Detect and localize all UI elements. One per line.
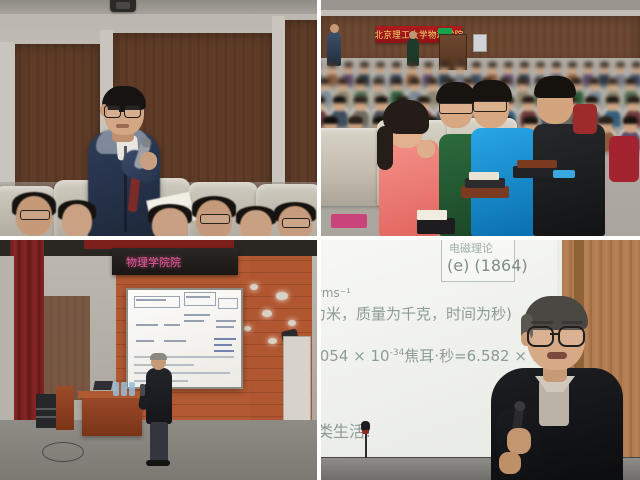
audience-hair: [344, 62, 353, 67]
slide-box-line2: (e) (1864): [447, 256, 528, 275]
slide-line-1: ⁹ms⁻¹: [321, 286, 351, 300]
slide-text-line: [186, 296, 210, 298]
questioner-mouth: [116, 124, 129, 128]
photo-panel-bottom-right: 电磁理论 (e) (1864) ⁹ms⁻¹ 为米，质量为千克，时间为秒) .05…: [321, 240, 640, 480]
audience-hair: [616, 62, 625, 67]
book: [469, 172, 499, 180]
slide-text-line: [136, 340, 154, 342]
wood-panel: [44, 296, 90, 400]
slide-text-line: [214, 344, 232, 346]
slide-text-line: [184, 320, 204, 322]
slide-text-line: [216, 320, 236, 322]
audience-hair: [333, 96, 345, 103]
audience-hair: [377, 126, 393, 170]
speaker-closeup-photo: 电磁理论 (e) (1864) ⁹ms⁻¹ 为米，质量为千克，时间为秒) .05…: [321, 240, 640, 480]
student-head: [240, 210, 272, 236]
audience-hair: [600, 62, 609, 67]
slide-text-line: [136, 299, 166, 301]
audience-hair: [392, 62, 401, 67]
audience-hair: [375, 96, 387, 103]
photo-collage: 北京理工大学物理学院: [0, 0, 640, 480]
eyeglasses-icon: [527, 326, 585, 343]
presenter-hair: [150, 353, 167, 360]
microphone-icon: [140, 384, 145, 396]
speaker-eyebrow: [561, 321, 583, 324]
audience-hair: [520, 62, 529, 67]
wall-light-reflection: [276, 292, 288, 300]
audience-hair: [391, 78, 402, 84]
slide-line-2: 为米，质量为千克，时间为秒): [321, 303, 512, 324]
slide-box: [184, 292, 216, 306]
podium-table: [82, 396, 142, 436]
equation-exponent-a: -34: [390, 348, 405, 358]
water-bottle: [121, 382, 127, 396]
slide-box-line1: 电磁理论: [449, 240, 493, 256]
audience-hair: [625, 78, 636, 84]
stage-sign: 物理学院院: [112, 248, 238, 275]
audience-hair: [424, 62, 433, 67]
slide-text-line: [216, 326, 234, 328]
audience-hair: [568, 62, 577, 67]
tablet: [553, 170, 575, 178]
eyeglasses-icon: [20, 210, 50, 220]
audience-hair: [598, 116, 612, 124]
presenter-shoes: [146, 460, 170, 466]
wall-light-reflection: [288, 320, 296, 326]
audience-hair: [440, 62, 449, 67]
wall-light-reflection: [268, 338, 277, 344]
audience-member-dark-jacket: [533, 124, 605, 236]
slide-box: [134, 296, 180, 308]
audience-hair: [534, 76, 576, 98]
wall-control-panel: [473, 34, 487, 52]
student-head: [152, 208, 188, 236]
eyeglasses-icon: [104, 105, 142, 116]
eyeglasses-icon: [439, 102, 473, 114]
slide-box: [218, 298, 238, 309]
audience-hair: [427, 78, 438, 84]
floor-cable: [42, 442, 84, 462]
auditorium-seat: [321, 128, 385, 206]
audience-hair: [328, 62, 337, 67]
wall-pilaster: [0, 42, 15, 204]
slide-text-line: [134, 356, 234, 358]
audience-hair: [321, 78, 330, 84]
stage-wide-photo: 物理学院院: [0, 240, 317, 480]
audience-hair: [470, 80, 512, 102]
microphone-windscreen: [362, 430, 369, 434]
audience-hair: [632, 62, 640, 67]
audience-hair: [504, 62, 513, 67]
audience-hair: [488, 62, 497, 67]
eyeglasses-icon: [473, 100, 507, 112]
ceiling-band: [0, 0, 317, 14]
audience-hair: [589, 78, 600, 84]
wood-panel: [284, 20, 317, 200]
slide-text-line: [214, 338, 236, 340]
ceiling-band: [321, 0, 640, 10]
standing-person: [327, 32, 341, 66]
audience-hair: [522, 96, 534, 103]
audience-hair: [472, 62, 481, 67]
audience-hair: [408, 62, 417, 67]
speaker-hand: [499, 452, 521, 474]
wall-light-reflection: [244, 326, 251, 331]
lecture-hall-questioner-photo: [0, 0, 317, 236]
audience-photo: 北京理工大学物理学院: [321, 0, 640, 236]
folding-desk: [517, 160, 557, 168]
speaker-hand: [507, 428, 531, 454]
pink-bag: [331, 214, 367, 228]
slide-text-line: [136, 324, 158, 326]
audience-hair: [552, 62, 561, 67]
audience-hair: [584, 62, 593, 67]
audience-hair: [354, 96, 366, 103]
speaker-mouth: [547, 352, 567, 359]
questioner-hand: [140, 152, 157, 170]
presenter-legs: [150, 422, 168, 462]
eyeglasses-icon: [200, 214, 230, 224]
stage-sign-text: 物理学院院: [112, 254, 181, 270]
audience-hair: [536, 62, 545, 67]
water-bottles: [113, 382, 139, 396]
audience-hair: [355, 78, 366, 84]
notebook: [417, 218, 455, 234]
slide-text-line: [164, 324, 180, 326]
slide-text-line: [214, 350, 234, 352]
audience-hair: [456, 62, 465, 67]
audience-hair: [321, 96, 325, 103]
audience-hair: [376, 62, 385, 67]
audience-hand: [417, 140, 435, 158]
audience-hair: [348, 116, 362, 124]
audience-hair: [409, 78, 420, 84]
audience-hair: [627, 96, 639, 103]
audience-hair: [585, 96, 597, 103]
slide-text-line: [184, 314, 210, 316]
photo-panel-top-right: 北京理工大学物理学院: [321, 0, 640, 236]
paper-sheet: [417, 210, 447, 220]
photo-panel-bottom-left: 物理学院院: [0, 240, 317, 480]
speaker-eyebrow: [531, 321, 553, 324]
wall-light-reflection: [250, 284, 258, 290]
ceiling-speaker-icon: [110, 0, 136, 12]
red-backpack: [609, 136, 639, 182]
projection-screen: [126, 288, 243, 389]
water-bottle: [113, 382, 119, 396]
red-backpack: [573, 104, 597, 134]
audience-hair: [517, 78, 528, 84]
audience-hair: [373, 78, 384, 84]
laptop: [93, 381, 113, 390]
wall-light-reflection: [262, 310, 272, 317]
student-head: [62, 204, 92, 236]
audience-hair: [523, 116, 537, 124]
audience-hair: [323, 116, 337, 124]
audience-hair: [337, 78, 348, 84]
slide-text-line: [164, 340, 186, 342]
wall-pilaster: [272, 16, 285, 204]
equation-part-a: .054 × 10: [321, 347, 390, 365]
audience-hair: [606, 96, 618, 103]
water-bottle: [129, 382, 135, 396]
photo-panel-top-left: [0, 0, 317, 236]
audience-hair: [623, 116, 637, 124]
lectern: [56, 386, 74, 430]
eyeglasses-icon: [282, 218, 310, 228]
audience-hair: [360, 62, 369, 67]
audience-hair: [607, 78, 618, 84]
